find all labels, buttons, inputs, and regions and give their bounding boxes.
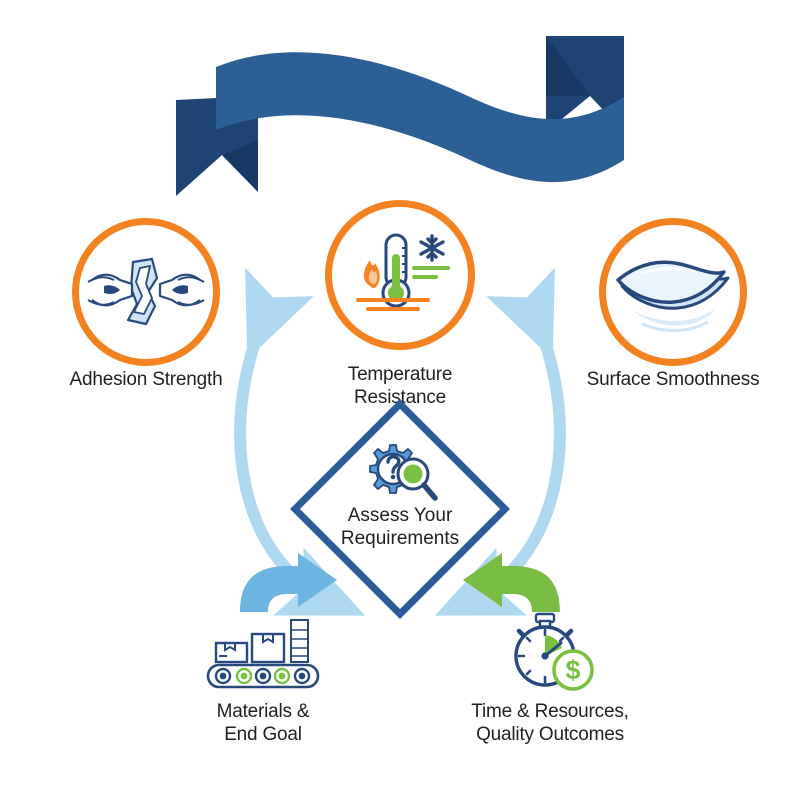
conveyor-belt-boxes-icon xyxy=(205,618,321,690)
infographic-canvas: Adhesion Strength Temperature Res xyxy=(0,0,800,800)
label-time-resources-quality-outcomes: Time & Resources, Quality Outcomes xyxy=(450,700,650,746)
assess-requirements-diamond[interactable] xyxy=(0,0,800,800)
svg-text:$: $ xyxy=(565,655,580,685)
gear-question-magnifier-icon xyxy=(358,443,444,507)
stopwatch-dollar-icon: $ xyxy=(502,612,598,692)
label-assess-your-requirements: Assess Your Requirements xyxy=(300,504,500,550)
label-materials-end-goal: Materials & End Goal xyxy=(163,700,363,746)
